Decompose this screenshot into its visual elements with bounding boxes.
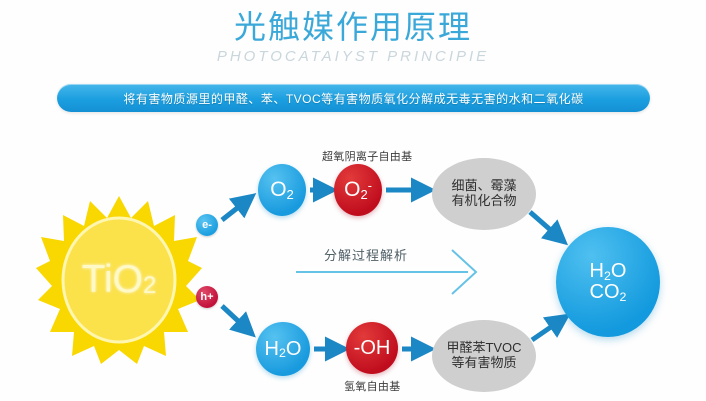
sun-icon [36, 196, 202, 364]
bubble-o2: O2 [258, 164, 306, 216]
target-voc-line2: 等有害物质 [451, 355, 516, 370]
summary-banner: 将有害物质源里的甲醛、苯、TVOC等有害物质氧化分解成无毒无害的水和二氧化碳 [57, 84, 650, 112]
electron-badge-label: e- [202, 219, 212, 231]
arrow-bio-to-product [530, 212, 562, 240]
bubble-product: H2O CO2 [556, 227, 660, 337]
target-voc-ellipse: 甲醛苯TVOC 等有害物质 [432, 320, 536, 392]
hole-badge: h+ [196, 286, 218, 308]
arrow-hole-to-h2o [222, 306, 250, 332]
electron-badge: e- [196, 214, 218, 236]
bubble-h2o-text: H2O [265, 339, 302, 360]
target-voc-line1: 甲醛苯TVOC [446, 340, 521, 355]
bubble-o2-text: O2 [270, 179, 294, 201]
bubble-h2o: H2O [256, 322, 310, 376]
bubble-product-line1: H2O [590, 261, 627, 282]
bubble-product-line2: CO2 [590, 282, 627, 303]
bubble-superoxide-text: O2- [344, 179, 372, 201]
target-bio-line2: 有机化合物 [451, 193, 516, 208]
target-bio-ellipse: 细菌、霉藻 有机化合物 [432, 158, 536, 230]
photocatalyst-principle-infographic: 光触媒作用原理 PHOTOCATAIYST PRINCIPIE 将有害物质源里的… [0, 0, 706, 401]
summary-banner-text: 将有害物质源里的甲醛、苯、TVOC等有害物质氧化分解成无毒无害的水和二氧化碳 [123, 90, 583, 107]
target-bio-line1: 细菌、霉藻 [451, 178, 516, 193]
bubble-superoxide: O2- [334, 164, 382, 216]
page-title: 光触媒作用原理 [0, 8, 706, 46]
target-bio-text: 细菌、霉藻 有机化合物 [451, 179, 516, 209]
bubble-hydroxyl: -OH [346, 322, 398, 374]
hydroxyl-caption: 氢氧自由基 [344, 378, 401, 394]
hole-badge-label: h+ [200, 291, 213, 303]
page-subtitle: PHOTOCATAIYST PRINCIPIE [0, 48, 706, 66]
arrow-electron-to-o2 [222, 198, 250, 220]
target-voc-text: 甲醛苯TVOC 等有害物质 [446, 341, 521, 371]
arrow-voc-to-product [532, 318, 564, 340]
bubble-hydroxyl-text: -OH [354, 338, 391, 359]
superoxide-caption: 超氧阴离子自由基 [322, 148, 412, 164]
sun-tio2-catalyst: TiO2 [36, 196, 202, 364]
process-label: 分解过程解析 [324, 245, 408, 264]
